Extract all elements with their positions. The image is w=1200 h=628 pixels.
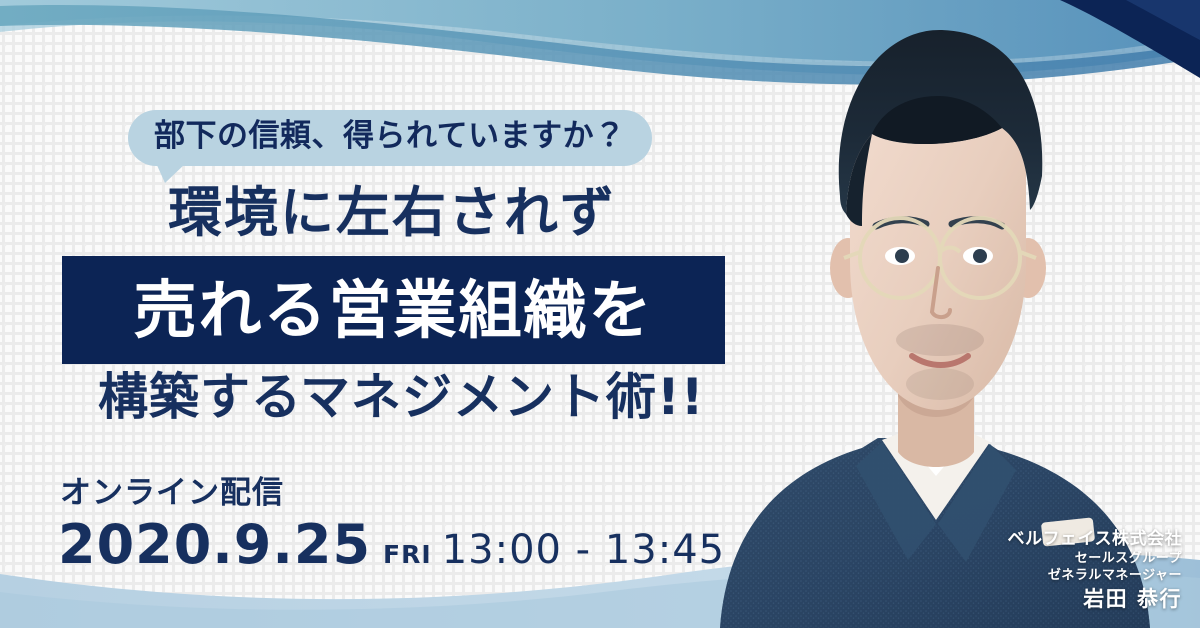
speaker-role: ゼネラルマネージャー (1008, 567, 1183, 584)
event-date: 2020.9.25 (58, 518, 371, 572)
speaker-group: セールスグループ (1008, 550, 1183, 567)
event-time-range: 13:00 - 13:45 (442, 527, 725, 573)
headline-highlight-band: 売れる営業組織を (62, 256, 725, 364)
bubble-text: 部下の信頼、得られていますか？ (154, 118, 626, 154)
event-day-of-week: FRI (383, 540, 432, 569)
schedule-row: 2020.9.25 FRI 13:00 - 13:45 (58, 518, 725, 573)
webinar-banner: 部下の信頼、得られていますか？ 環境に左右されず 売れる営業組織を 構築するマネ… (0, 0, 1200, 628)
speaker-credit: ベルフェイス株式会社 セールスグループ ゼネラルマネージャー 岩田 恭行 (1008, 528, 1183, 614)
question-speech-bubble: 部下の信頼、得られていますか？ (128, 110, 652, 166)
headline-band-text: 売れる営業組織を (134, 279, 654, 342)
headline-line-3: 構築するマネジメント術!! (98, 372, 705, 422)
speaker-company: ベルフェイス株式会社 (1008, 528, 1183, 550)
headline-line-1: 環境に左右されず (168, 186, 616, 240)
delivery-mode-label: オンライン配信 (60, 478, 284, 509)
speaker-name: 岩田 恭行 (1008, 586, 1183, 614)
